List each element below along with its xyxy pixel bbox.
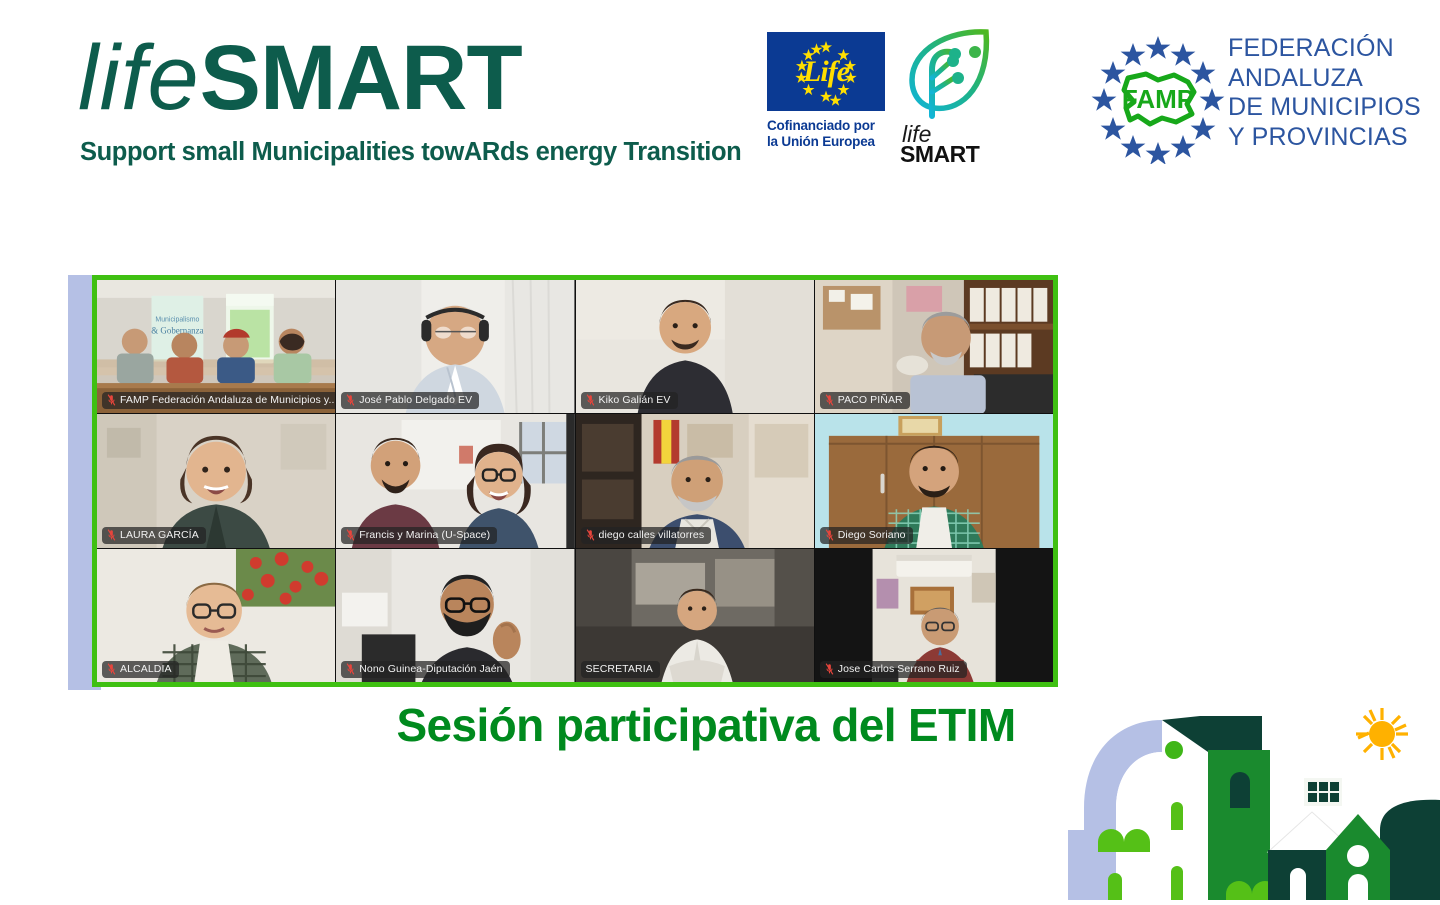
participant-name: Francis y Marina (U-Space) (359, 528, 490, 542)
participant-name-label: PACO PIÑAR (820, 392, 910, 409)
mic-muted-icon (346, 529, 355, 541)
video-call-screenshot: Municipalismo & Gobernanza (92, 275, 1058, 687)
participant-tile[interactable]: diego calles villatorres (576, 414, 815, 547)
svg-text:FAMP: FAMP (1122, 84, 1194, 114)
participant-name: Jose Carlos Serrano Ruiz (838, 662, 960, 676)
village-graphic (1040, 690, 1440, 900)
participant-tile[interactable]: Municipalismo & Gobernanza (97, 280, 336, 413)
page-title-text: Sesión participativa del ETIM (396, 698, 1015, 752)
eu-caption-line1: Cofinanciado por (767, 118, 892, 134)
participant-name-label: Jose Carlos Serrano Ruiz (820, 661, 967, 678)
mic-muted-icon (825, 663, 834, 675)
mic-muted-icon (586, 394, 595, 406)
mic-muted-icon (346, 394, 355, 406)
video-grid-row: LAURA GARCÍA (97, 414, 1053, 548)
participant-tile[interactable]: Kiko Galián EV (576, 280, 815, 413)
participant-name: SECRETARIA (586, 662, 653, 676)
mic-muted-icon (107, 663, 116, 675)
lifesmart-leaf-logo: life SMART (896, 28, 1001, 163)
eu-life-text: Life (767, 32, 885, 111)
header-logo-bar: lifeSMART Support small Municipalities t… (0, 0, 1440, 200)
lifesmart-logo: lifeSMART Support small Municipalities t… (78, 28, 698, 163)
famp-emblem-icon: FAMP (1088, 32, 1228, 164)
participant-name-label: Nono Guinea-Diputación Jaén (341, 661, 509, 678)
lifesmart-wordmark: lifeSMART (78, 30, 522, 126)
svg-text:& Gobernanza: & Gobernanza (151, 326, 203, 336)
lifesmart-tagline: Support small Municipalities towARds ene… (80, 138, 741, 167)
eu-flag: Life (767, 32, 885, 111)
participant-tile[interactable]: Nono Guinea-Diputación Jaén (336, 549, 575, 682)
participant-name-label: diego calles villatorres (581, 527, 712, 544)
eu-cofunding-logo: Life Cofinanciado por la Unión Europea (767, 32, 892, 162)
participant-name-label: Diego Soriano (820, 527, 913, 544)
participant-name-label: Francis y Marina (U-Space) (341, 527, 497, 544)
participant-name: José Pablo Delgado EV (359, 393, 472, 407)
mic-muted-icon (825, 394, 834, 406)
mic-muted-icon (586, 529, 595, 541)
participant-name: Nono Guinea-Diputación Jaén (359, 662, 502, 676)
participant-name: Kiko Galián EV (599, 393, 671, 407)
participant-name: ALCALDIA (120, 662, 172, 676)
church-door (1348, 874, 1368, 900)
video-grid: Municipalismo & Gobernanza (97, 280, 1053, 682)
mic-muted-icon (346, 663, 355, 675)
participant-name: diego calles villatorres (599, 528, 705, 542)
famp-line3: DE MUNICIPIOS (1228, 93, 1421, 123)
village-illustration (1040, 690, 1440, 900)
solar-panel-icon (1304, 778, 1342, 806)
participant-tile[interactable]: ALCALDIA (97, 549, 336, 682)
video-grid-row: ALCALDIA (97, 549, 1053, 682)
participant-tile[interactable]: Francis y Marina (U-Space) (336, 414, 575, 547)
participant-tile[interactable]: José Pablo Delgado EV (336, 280, 575, 413)
participant-tile[interactable]: Jose Carlos Serrano Ruiz (815, 549, 1053, 682)
participant-name: LAURA GARCÍA (120, 528, 199, 542)
famp-logo: FAMP FEDERACIÓN ANDALUZA DE MUNICIPIOS Y… (1088, 28, 1388, 168)
mid-window (1290, 868, 1306, 900)
participant-name: PACO PIÑAR (838, 393, 903, 407)
lifesmart-smart-text: SMART (200, 27, 522, 129)
participant-name: FAMP Federación Andaluza de Municipios y… (120, 393, 336, 407)
participant-name-label: José Pablo Delgado EV (341, 392, 479, 409)
svg-text:Municipalismo: Municipalismo (155, 317, 199, 324)
leaf-smart-text: SMART (900, 141, 979, 168)
lifesmart-life-text: life (78, 27, 200, 129)
mic-muted-icon (107, 529, 116, 541)
church-round-window (1347, 845, 1369, 867)
participant-name-label: ALCALDIA (102, 661, 179, 678)
participant-tile[interactable]: PACO PIÑAR (815, 280, 1053, 413)
tower-window (1230, 772, 1250, 808)
leaf-icon (898, 28, 996, 120)
participant-tile[interactable]: Diego Soriano (815, 414, 1053, 547)
mic-muted-icon (107, 394, 116, 406)
sun-icon (1356, 708, 1408, 760)
participant-name-label: LAURA GARCÍA (102, 527, 206, 544)
famp-line1: FEDERACIÓN (1228, 34, 1421, 64)
participant-name: Diego Soriano (838, 528, 906, 542)
eu-caption: Cofinanciado por la Unión Europea (767, 118, 892, 150)
participant-tile[interactable]: LAURA GARCÍA (97, 414, 336, 547)
participant-name-label: Kiko Galián EV (581, 392, 678, 409)
famp-line4: Y PROVINCIAS (1228, 123, 1421, 153)
famp-name: FEDERACIÓN ANDALUZA DE MUNICIPIOS Y PROV… (1228, 34, 1421, 152)
mic-muted-icon (825, 529, 834, 541)
famp-line2: ANDALUZA (1228, 64, 1421, 94)
participant-name-label: SECRETARIA (581, 661, 660, 678)
participant-tile[interactable]: SECRETARIA (576, 549, 815, 682)
video-grid-row: Municipalismo & Gobernanza (97, 280, 1053, 414)
eu-caption-line2: la Unión Europea (767, 134, 892, 150)
participant-name-label: FAMP Federación Andaluza de Municipios y… (102, 392, 336, 409)
round-window (1165, 741, 1183, 759)
